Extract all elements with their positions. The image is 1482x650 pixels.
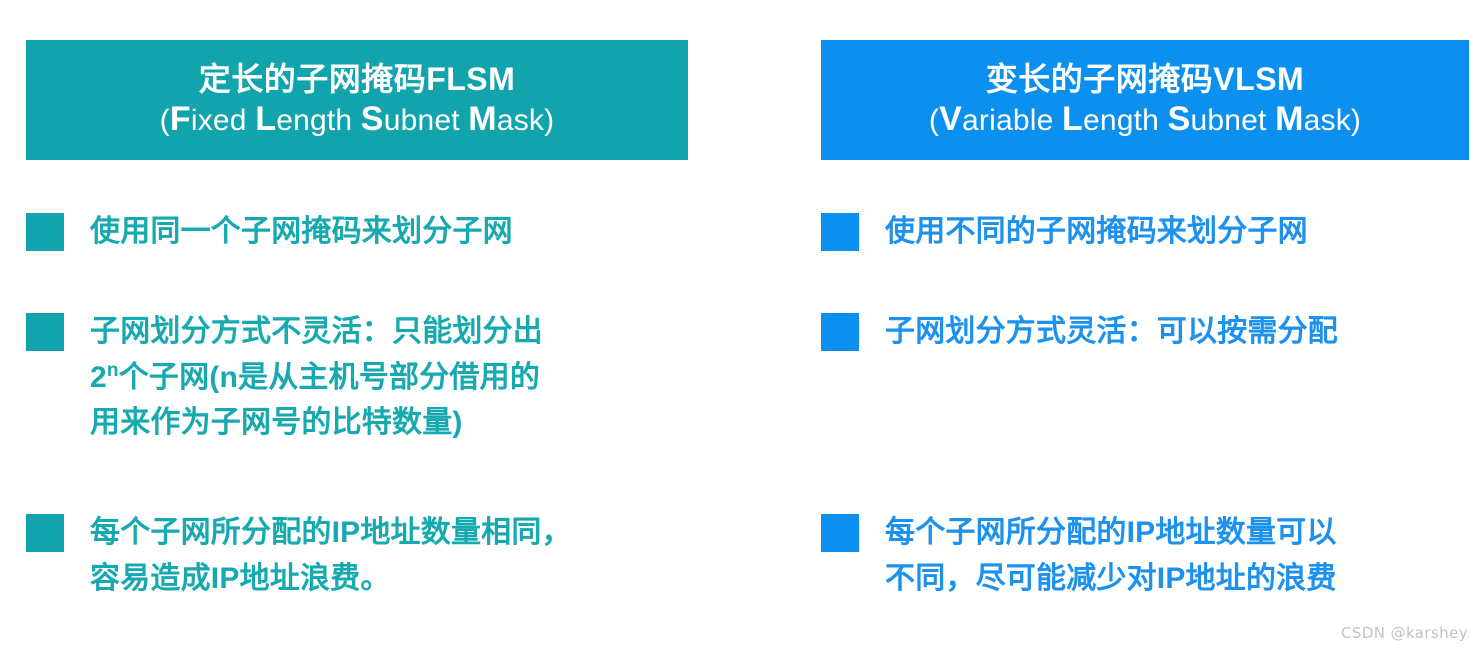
comparison-slide: 定长的子网掩码FLSM (Fixed Length Subnet Mask) 使… (0, 0, 1482, 650)
vlsm-bullet-3: 每个子网所分配的IP地址数量可以 不同，尽可能减少对IP地址的浪费 (821, 510, 1337, 601)
square-bullet-icon (821, 313, 859, 351)
square-bullet-icon (821, 213, 859, 251)
flsm-bullet-3: 每个子网所分配的IP地址数量相同， 容易造成IP地址浪费。 (26, 510, 572, 601)
flsm-bullet-3-text: 每个子网所分配的IP地址数量相同， 容易造成IP地址浪费。 (90, 510, 572, 601)
flsm-title-chinese: 定长的子网掩码FLSM (199, 63, 516, 97)
square-bullet-icon (26, 313, 64, 351)
vlsm-title-chinese: 变长的子网掩码VLSM (986, 63, 1304, 97)
vlsm-title-english: (Variable Length Subnet Mask) (929, 101, 1361, 137)
csdn-watermark: CSDN @karshey (1341, 624, 1468, 642)
flsm-bullet-1: 使用同一个子网掩码来划分子网 (26, 209, 513, 255)
square-bullet-icon (26, 213, 64, 251)
vlsm-header-banner: 变长的子网掩码VLSM (Variable Length Subnet Mask… (821, 40, 1469, 160)
vlsm-bullet-3-text: 每个子网所分配的IP地址数量可以 不同，尽可能减少对IP地址的浪费 (885, 510, 1337, 601)
square-bullet-icon (26, 514, 64, 552)
vlsm-bullet-2-text: 子网划分方式灵活：可以按需分配 (885, 309, 1338, 355)
flsm-header-banner: 定长的子网掩码FLSM (Fixed Length Subnet Mask) (26, 40, 688, 160)
vlsm-bullet-1-text: 使用不同的子网掩码来划分子网 (885, 209, 1308, 255)
flsm-bullet-1-text: 使用同一个子网掩码来划分子网 (90, 209, 513, 255)
vlsm-bullet-2: 子网划分方式灵活：可以按需分配 (821, 309, 1338, 355)
flsm-bullet-2: 子网划分方式不灵活：只能划分出 2n个子网(n是从主机号部分借用的 用来作为子网… (26, 309, 543, 446)
exponent-n: n (107, 360, 119, 381)
vlsm-column: 变长的子网掩码VLSM (Variable Length Subnet Mask… (795, 0, 1482, 650)
flsm-bullet-2-text: 子网划分方式不灵活：只能划分出 2n个子网(n是从主机号部分借用的 用来作为子网… (90, 309, 543, 446)
vlsm-bullet-1: 使用不同的子网掩码来划分子网 (821, 209, 1308, 255)
flsm-title-english: (Fixed Length Subnet Mask) (160, 101, 555, 137)
square-bullet-icon (821, 514, 859, 552)
flsm-column: 定长的子网掩码FLSM (Fixed Length Subnet Mask) 使… (12, 0, 712, 650)
